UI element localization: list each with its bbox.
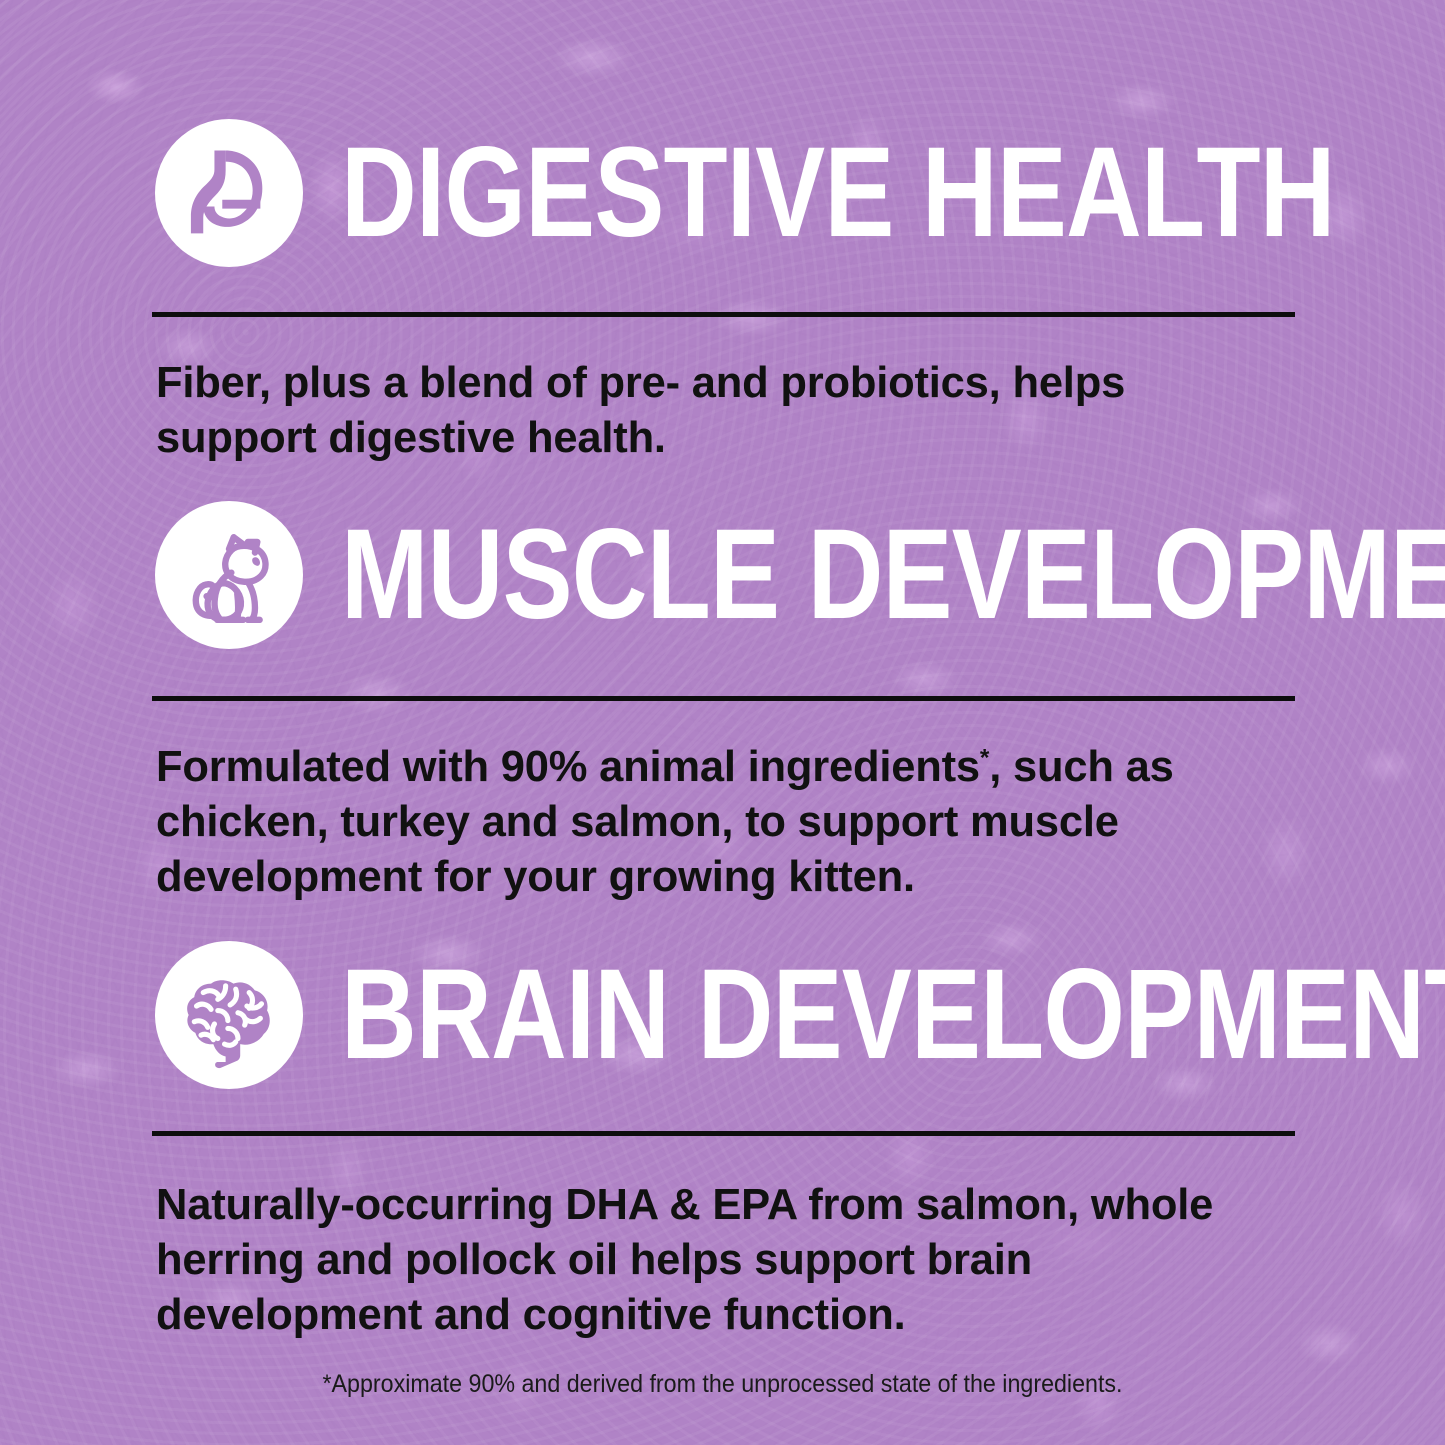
brain-icon <box>155 941 303 1089</box>
benefit-title: MUSCLE DEVELOPMENT <box>341 511 1445 639</box>
benefit-heading-row: MUSCLE DEVELOPMENT <box>0 500 1445 650</box>
section-divider <box>152 312 1295 317</box>
cat-icon <box>155 501 303 649</box>
benefit-title: DIGESTIVE HEALTH <box>341 129 1335 257</box>
benefit-title: BRAIN DEVELOPMENT <box>341 951 1445 1079</box>
benefit-description-part1: Formulated with 90% animal ingredients <box>156 743 980 791</box>
section-divider <box>152 696 1295 701</box>
footnote-text: *Approximate 90% and derived from the un… <box>51 1370 1395 1399</box>
poster-content: DIGESTIVE HEALTH Fiber, plus a blend of … <box>0 0 1445 1445</box>
benefit-section-muscle-development: MUSCLE DEVELOPMENT <box>0 500 1445 650</box>
benefit-description: Formulated with 90% animal ingredients*,… <box>156 740 1286 906</box>
benefit-section-digestive-health: DIGESTIVE HEALTH <box>0 118 1445 268</box>
footnote-marker: * <box>980 745 989 772</box>
benefit-description: Fiber, plus a blend of pre- and probioti… <box>156 356 1286 466</box>
section-divider <box>152 1131 1295 1136</box>
benefit-heading-row: BRAIN DEVELOPMENT <box>0 940 1445 1090</box>
benefit-description: Naturally-occurring DHA & EPA from salmo… <box>156 1178 1286 1344</box>
stomach-icon <box>155 119 303 267</box>
product-benefits-poster: DIGESTIVE HEALTH Fiber, plus a blend of … <box>0 0 1445 1445</box>
benefit-section-brain-development: BRAIN DEVELOPMENT <box>0 940 1445 1090</box>
benefit-heading-row: DIGESTIVE HEALTH <box>0 118 1445 268</box>
